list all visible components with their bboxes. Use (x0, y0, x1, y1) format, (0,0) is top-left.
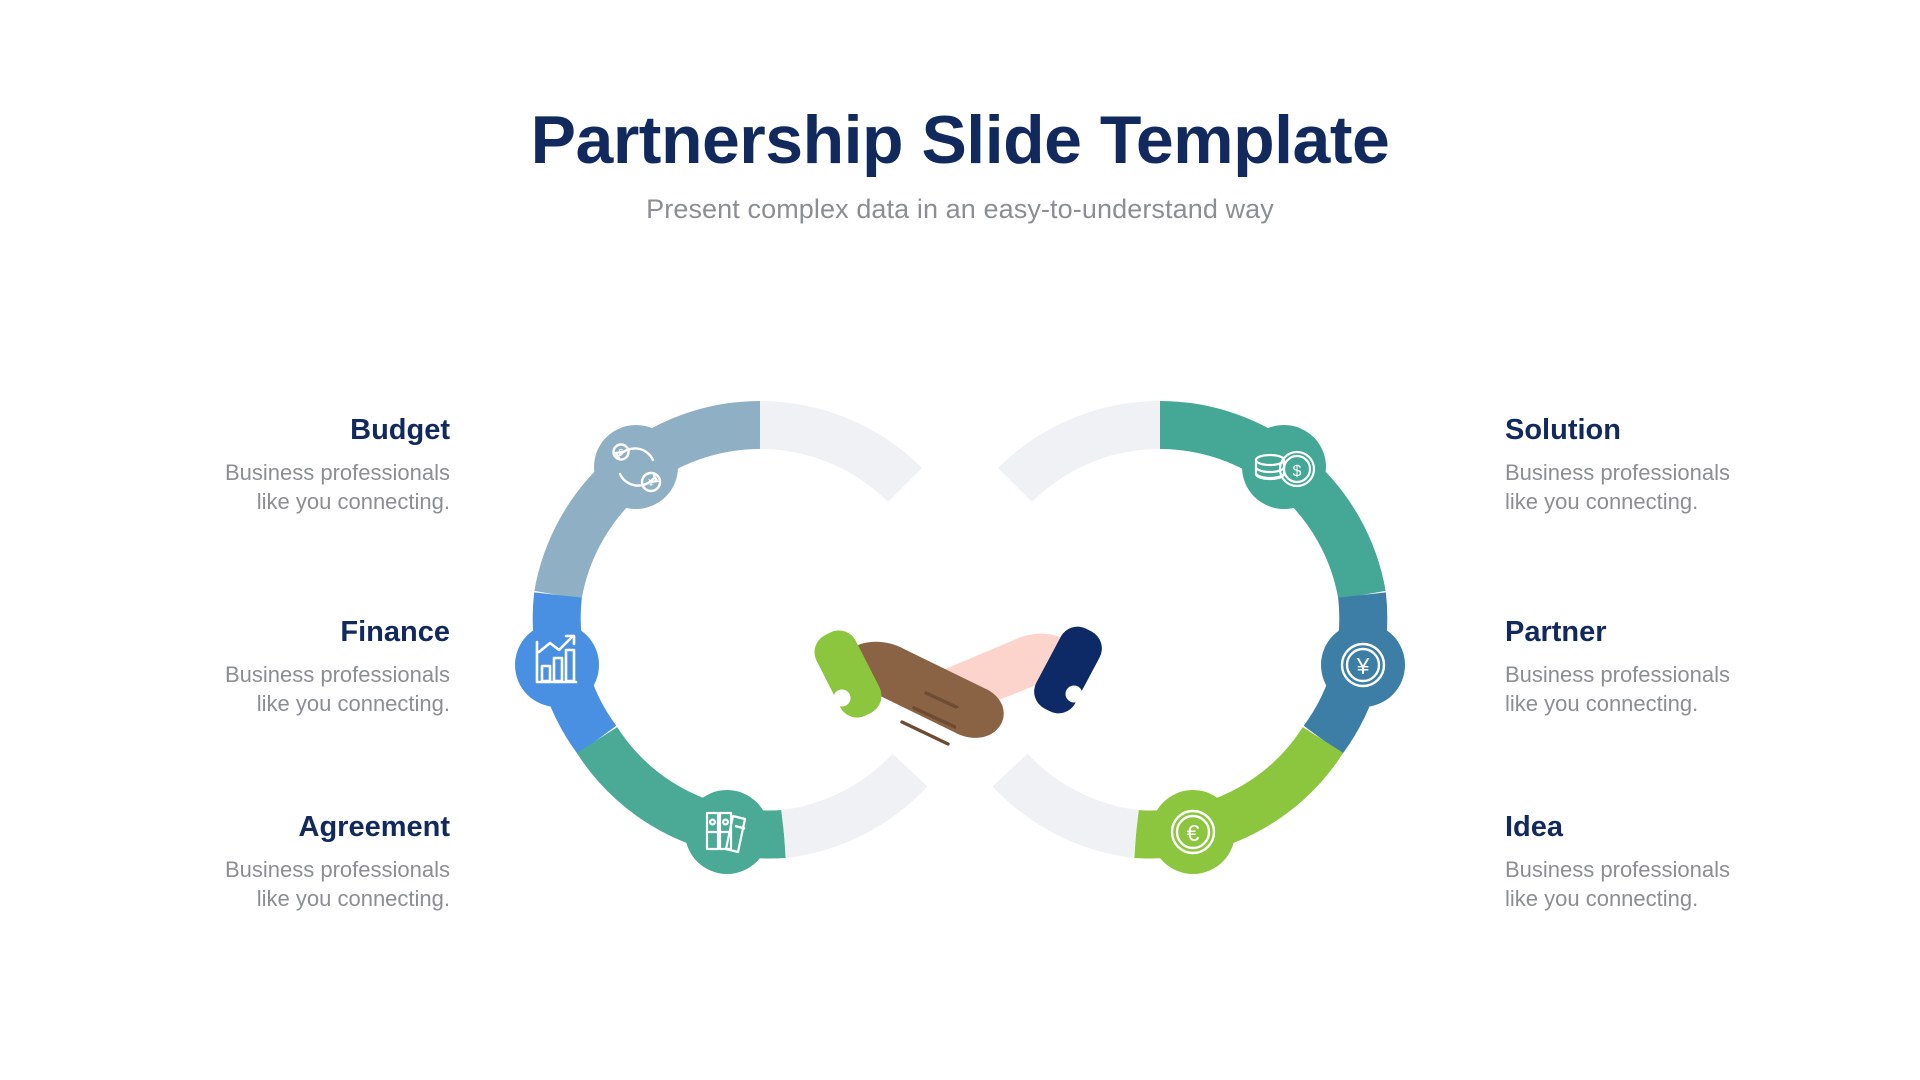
label-desc-agreement: Business professionals like you connecti… (150, 844, 450, 914)
svg-text:$: $ (1293, 463, 1302, 480)
handshake-illustration (808, 620, 1109, 744)
svg-text:¥: ¥ (647, 478, 654, 489)
label-title-budget: Budget (150, 415, 450, 447)
svg-text:$: $ (619, 448, 624, 457)
label-desc-finance: Business professionals like you connecti… (150, 649, 450, 719)
icon-node-solution[interactable]: $ (1242, 425, 1326, 509)
slide-canvas: Partnership Slide Template Present compl… (0, 0, 1920, 1080)
icon-node-finance[interactable] (515, 623, 599, 707)
svg-text:€: € (1187, 820, 1200, 846)
left-ring-inactive-arc (760, 425, 905, 485)
label-title-partner: Partner (1505, 617, 1805, 649)
page-title: Partnership Slide Template (0, 104, 1920, 176)
label-title-solution: Solution (1505, 415, 1805, 447)
icon-node-agreement[interactable] (685, 790, 769, 874)
label-desc-partner: Business professionals like you connecti… (1505, 649, 1805, 719)
label-block-partner[interactable]: Partner Business professionals like you … (1505, 617, 1805, 718)
label-title-finance: Finance (150, 617, 450, 649)
header: Partnership Slide Template Present compl… (0, 104, 1920, 225)
label-block-agreement[interactable]: Agreement Business professionals like yo… (150, 812, 450, 913)
right-ring-inactive-arc-bottom (1010, 770, 1136, 834)
right-ring-inactive-arc (1015, 425, 1160, 485)
icon-node-idea[interactable]: € (1151, 790, 1235, 874)
left-ring-inactive-arc-bottom (784, 770, 910, 834)
label-block-idea[interactable]: Idea Business professionals like you con… (1505, 812, 1805, 913)
label-block-solution[interactable]: Solution Business professionals like you… (1505, 415, 1805, 516)
label-desc-idea: Business professionals like you connecti… (1505, 844, 1805, 914)
label-title-agreement: Agreement (150, 812, 450, 844)
label-desc-budget: Business professionals like you connecti… (150, 447, 450, 517)
icon-node-budget[interactable]: $ ¥ (594, 425, 678, 509)
label-desc-solution: Business professionals like you connecti… (1505, 447, 1805, 517)
page-subtitle: Present complex data in an easy-to-under… (0, 176, 1920, 225)
icon-node-partner[interactable]: ¥ (1321, 623, 1405, 707)
label-block-budget[interactable]: Budget Business professionals like you c… (150, 415, 450, 516)
svg-text:¥: ¥ (1356, 653, 1370, 679)
label-title-idea: Idea (1505, 812, 1805, 844)
infinity-loop-diagram: $ ¥ (510, 380, 1410, 960)
label-block-finance[interactable]: Finance Business professionals like you … (150, 617, 450, 718)
